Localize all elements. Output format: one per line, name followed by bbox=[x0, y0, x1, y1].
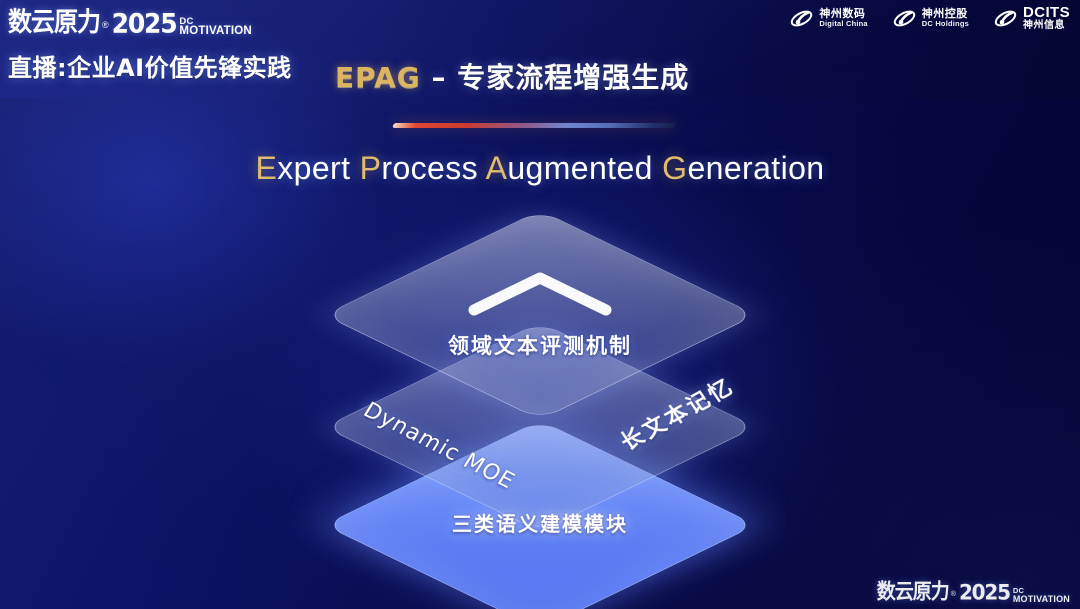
gradient-divider bbox=[392, 123, 676, 128]
logo-digital-china: 神州数码 Digital China bbox=[789, 6, 867, 31]
logo-dc-holdings-en: DC Holdings bbox=[922, 20, 969, 28]
watermark-dc-motivation: DC MOTIVATION bbox=[1013, 588, 1070, 603]
slide-title-separator: – bbox=[421, 61, 458, 94]
slide-canvas: 数云原力 ® 2025 DC MOTIVATION 直播:企业AI价值先锋实践 … bbox=[0, 0, 1080, 609]
subtitle-part: xpert bbox=[277, 150, 359, 186]
diagram-layer-top bbox=[324, 210, 757, 420]
diagram-layer-bottom bbox=[324, 420, 757, 609]
brand-dc-motivation: DC MOTIVATION bbox=[179, 18, 251, 37]
diagram-layer-top-label: 领域文本评测机制 bbox=[0, 330, 1080, 360]
logo-dcits-text: DCITS 神州信息 bbox=[1023, 5, 1070, 31]
subtitle-expert-process-augmented-generation: Expert Process Augmented Generation bbox=[0, 150, 1080, 187]
brand-motivation-label: MOTIVATION bbox=[179, 26, 251, 37]
slide-title-chinese: 专家流程增强生成 bbox=[457, 61, 689, 94]
diagram-layer-bottom-label: 三类语义建模模块 bbox=[0, 508, 1080, 537]
diagram-layer-middle-label-right: 长文本记忆 bbox=[613, 369, 740, 456]
subtitle-part: P bbox=[360, 150, 382, 186]
watermark-name-cn: 数云原力 bbox=[877, 575, 949, 605]
logo-dcits-en: DCITS bbox=[1023, 5, 1070, 21]
brand-registered-mark: ® bbox=[102, 20, 109, 30]
logo-dcits-cn: 神州信息 bbox=[1023, 21, 1070, 32]
footer-watermark: 数云原力 ® 2025 DC MOTIVATION bbox=[877, 578, 1070, 605]
subtitle-part: A bbox=[486, 150, 508, 186]
subtitle-part: eneration bbox=[687, 150, 824, 186]
diagram-layer-middle-label-left: Dynamic MOE bbox=[359, 398, 520, 494]
watermark-year: 2025 bbox=[959, 580, 1010, 605]
slide-title-acronym: EPAG bbox=[335, 61, 421, 94]
partner-logos: 神州数码 Digital China 神州控股 DC Holdings bbox=[789, 5, 1070, 31]
subtitle-part: E bbox=[255, 150, 277, 186]
swirl-logo-icon bbox=[892, 6, 917, 31]
logo-dcits: DCITS 神州信息 bbox=[993, 5, 1070, 31]
logo-dc-holdings-text: 神州控股 DC Holdings bbox=[922, 8, 969, 27]
watermark-registered-mark: ® bbox=[951, 591, 956, 598]
watermark-motivation-label: MOTIVATION bbox=[1013, 595, 1070, 603]
chevron-up-icon bbox=[466, 268, 614, 318]
subtitle-part: G bbox=[662, 150, 687, 186]
brand-name-cn: 数云原力 bbox=[8, 0, 100, 39]
swirl-logo-icon bbox=[993, 6, 1018, 31]
stack-base-glow bbox=[300, 440, 780, 590]
subtitle-part: ugmented bbox=[507, 150, 662, 186]
swirl-logo-icon bbox=[789, 6, 814, 31]
subtitle-part: rocess bbox=[381, 150, 485, 186]
brand-logo: 数云原力 ® 2025 DC MOTIVATION bbox=[8, 4, 252, 39]
live-stream-title: 直播:企业AI价值先锋实践 bbox=[8, 48, 292, 83]
logo-dc-holdings: 神州控股 DC Holdings bbox=[892, 6, 969, 31]
slide-title: EPAG – 专家流程增强生成 bbox=[335, 56, 689, 96]
logo-digital-china-en: Digital China bbox=[819, 20, 867, 28]
logo-digital-china-text: 神州数码 Digital China bbox=[819, 8, 867, 27]
brand-year: 2025 bbox=[112, 9, 177, 39]
diagram-layer-middle bbox=[324, 322, 757, 532]
